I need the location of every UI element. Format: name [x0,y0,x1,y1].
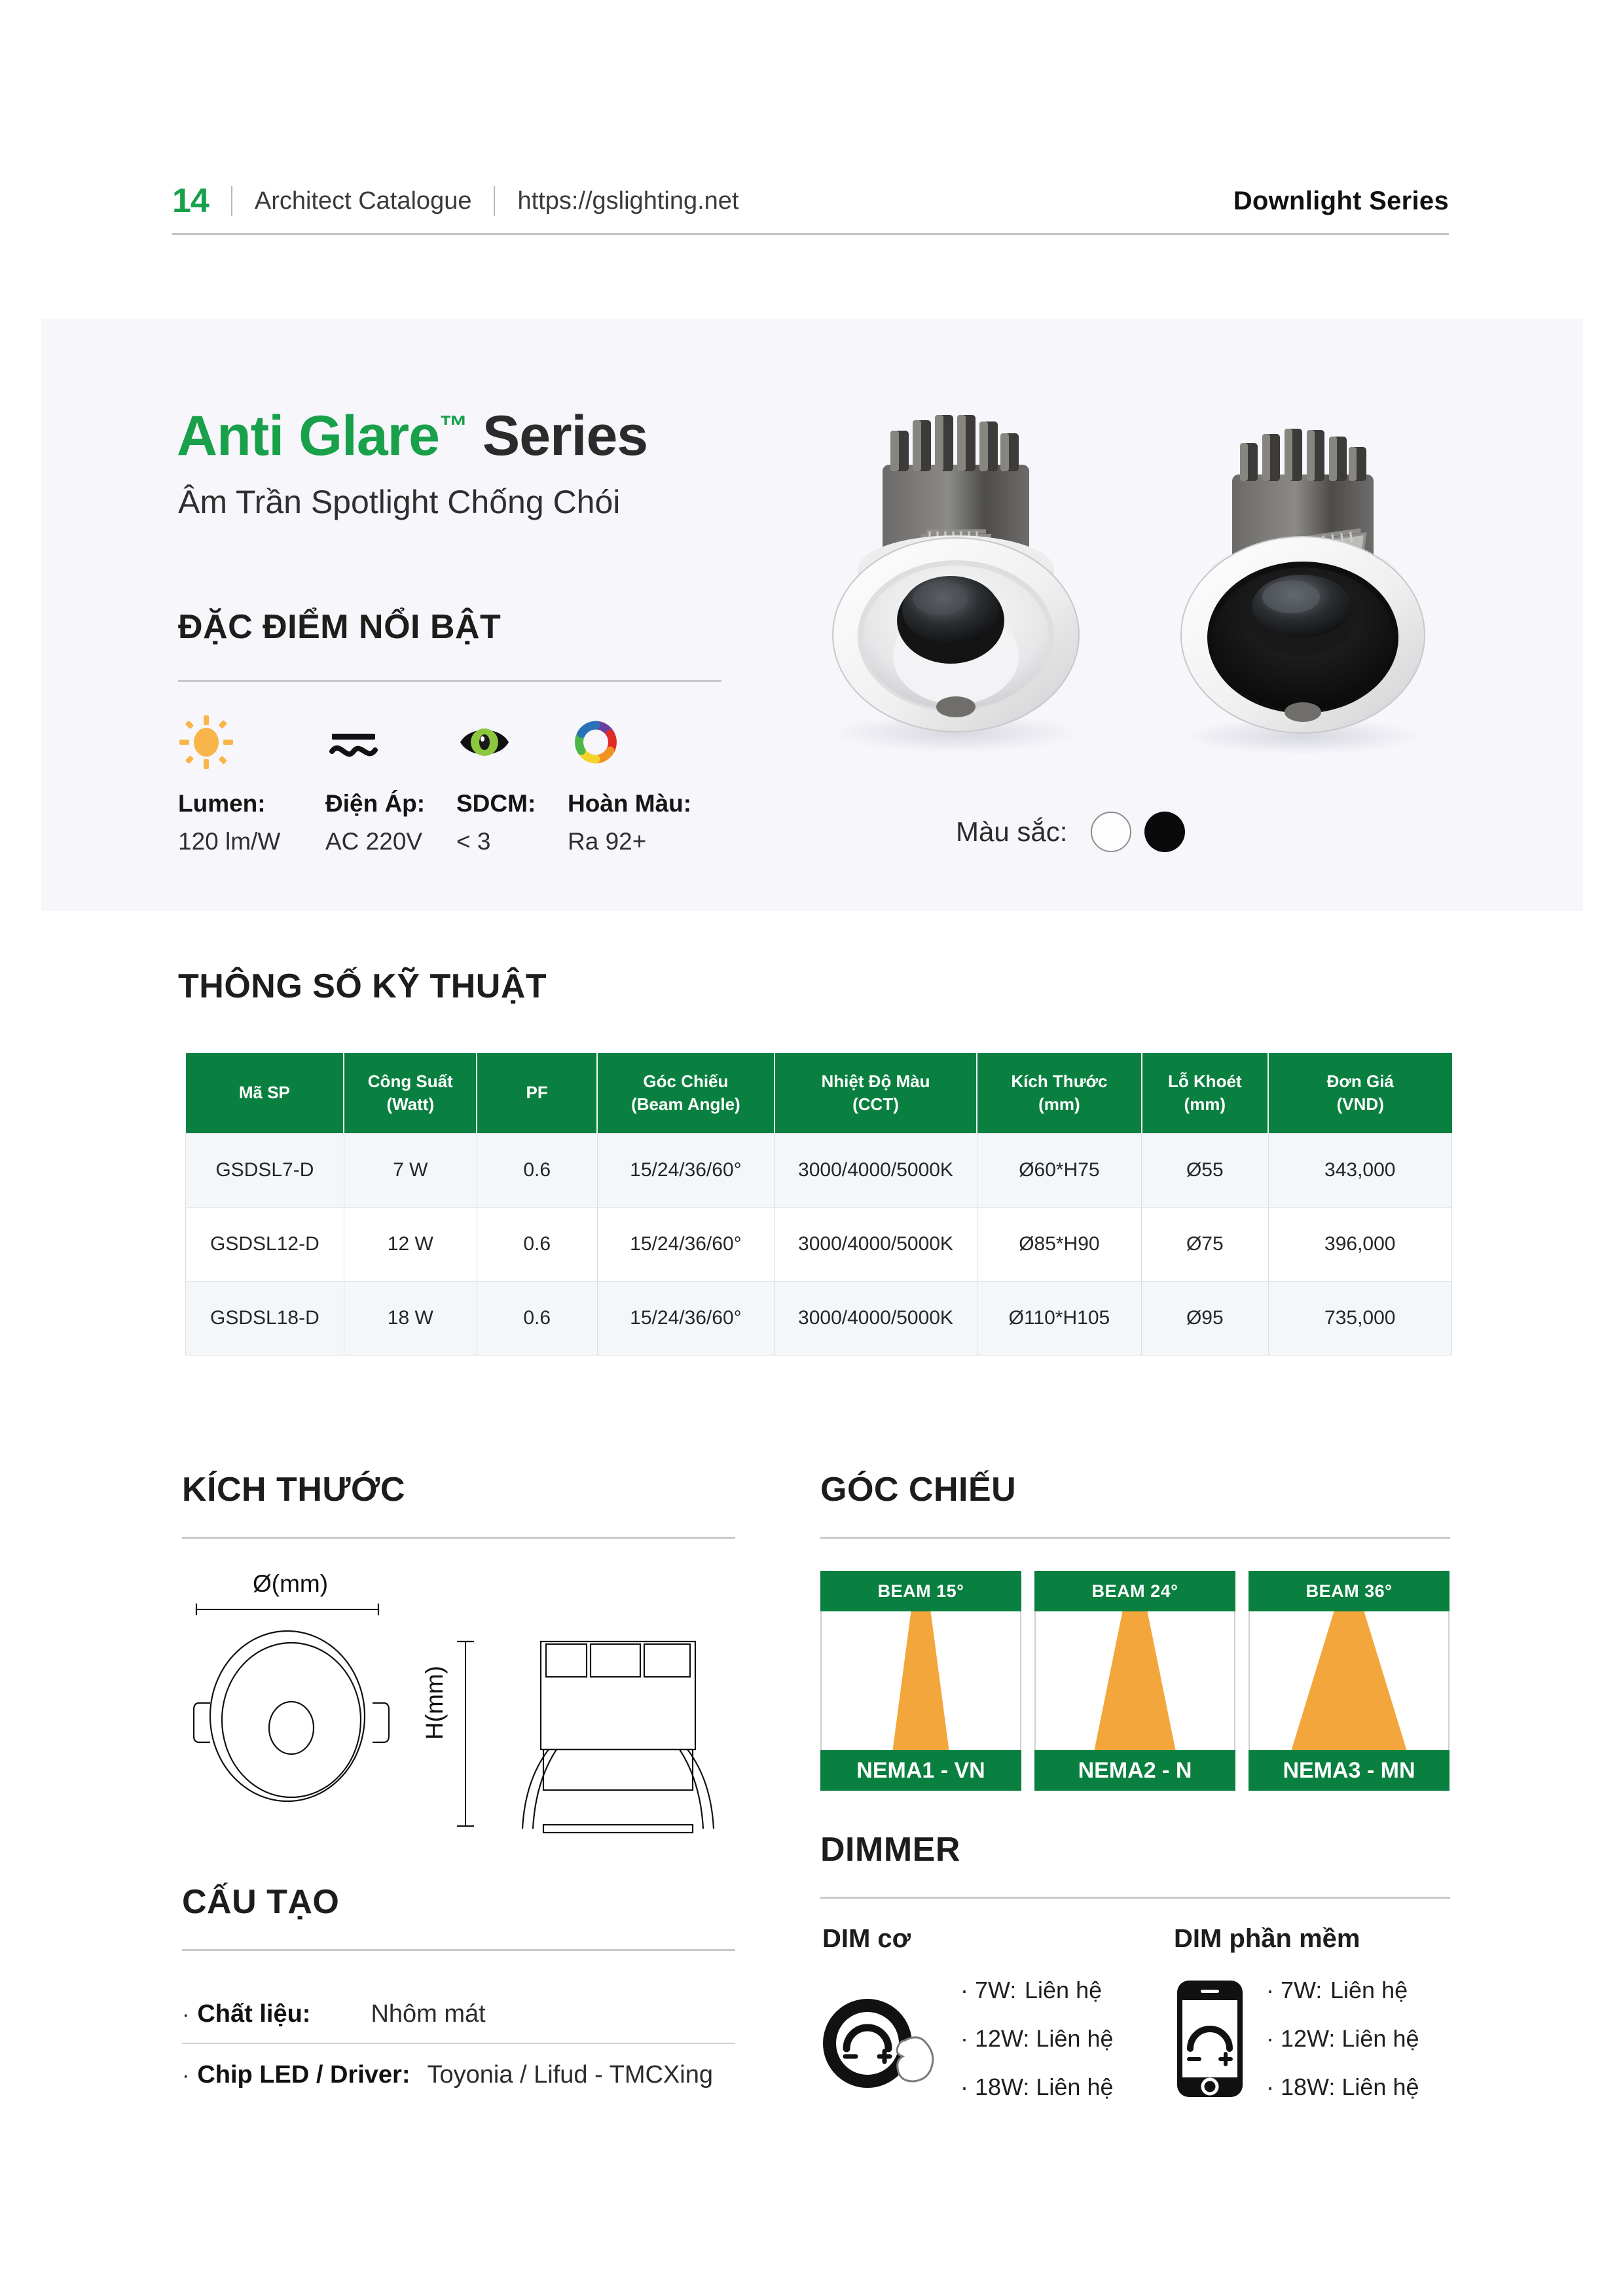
col-nhiet-do-mau: Nhiệt Độ Màu (CCT) [775,1053,977,1134]
beam-cone-shape [822,1611,1020,1750]
spec-heading: THÔNG SỐ KỸ THUẬT [178,967,547,1006]
feature-value-lumen: 120 lm/W [178,828,280,855]
dimmer-rule [820,1897,1450,1899]
beam-card-nema: NEMA2 - N [1034,1750,1235,1791]
sun-icon [178,704,234,781]
diameter-label: Ø(mm) [253,1570,328,1597]
color-options: Màu sắc: [956,812,1198,852]
dimmer-item: · 12W: Liên hệ [960,2025,1114,2053]
feature-list: Lumen: 120 lm/W Điện Áp: AC 220V [178,704,728,855]
dimmer-item: · 7W: Liên hệ [960,1977,1114,2004]
cell-pf: 0.6 [477,1134,597,1208]
product-photo-group [759,353,1532,772]
feature-lumen: Lumen: 120 lm/W [178,704,325,855]
construction-value: Nhôm mát [371,2000,485,2028]
dimmer-item: · 18W: Liên hệ [960,2073,1114,2101]
catalogue-page: 14 Architect Catalogue https://gslightin… [0,0,1623,2296]
beam-angle-heading: GÓC CHIẾU [820,1470,1016,1509]
dimmer-group-label-software: DIM phần mềm [1174,1924,1360,1954]
product-photo-black [1181,429,1425,755]
col-lo-khoet: Lỗ Khoét (mm) [1142,1053,1268,1134]
feature-cri: Hoàn Màu: Ra 92+ [568,704,691,855]
cell-cutout: Ø55 [1142,1134,1268,1208]
smartphone-dimmer-icon [1172,1977,1250,2101]
dimmer-item: · 18W: Liên hệ [1266,2073,1419,2101]
beam-card-15: BEAM 15° NEMA1 - VN [820,1571,1021,1791]
cell-model: GSDSL7-D [186,1134,344,1208]
header-divider [231,186,232,216]
cell-watt: 12 W [344,1208,477,1282]
table-row: GSDSL18-D 18 W 0.6 15/24/36/60° 3000/400… [186,1282,1452,1355]
feature-label-cri: Hoàn Màu: [568,790,691,817]
cell-pf: 0.6 [477,1208,597,1282]
feature-sdcm: SDCM: < 3 [456,704,568,855]
cell-cutout: Ø75 [1142,1208,1268,1282]
beam-cone-area [820,1611,1021,1750]
catalogue-label: Architect Catalogue [255,187,472,215]
series-title: Downlight Series [1233,187,1449,216]
construction-rule [182,1949,735,1951]
product-title-series: Series [483,404,647,467]
website-url[interactable]: https://gslighting.net [517,187,739,215]
beam-card-nema: NEMA3 - MN [1249,1750,1450,1791]
cell-size: Ø85*H90 [977,1208,1141,1282]
beam-card-nema: NEMA1 - VN [820,1750,1021,1791]
dimmer-item: · 7W: Liên hệ [1266,1977,1419,2004]
cell-price: 343,000 [1268,1134,1451,1208]
dimensions-drawing: Ø(mm) H(mm) [182,1564,745,1839]
color-wheel-icon [568,704,624,781]
feature-value-sdcm: < 3 [456,828,490,855]
beam-card-title: BEAM 36° [1249,1571,1450,1611]
dimmer-item: · 12W: Liên hệ [1266,2025,1419,2053]
cell-beam: 15/24/36/60° [597,1282,775,1355]
feature-voltage: Điện Áp: AC 220V [325,704,456,855]
construction-row-chip: · Chip LED / Driver: Toyonia / Lifud - T… [182,2043,735,2104]
construction-heading: CẤU TẠO [182,1882,339,1922]
product-photo-white [831,415,1080,753]
cell-model: GSDSL12-D [186,1208,344,1282]
beam-card-24: BEAM 24° NEMA2 - N [1034,1571,1235,1791]
feature-value-cri: Ra 92+ [568,828,646,855]
col-goc-chieu: Góc Chiếu (Beam Angle) [597,1053,775,1134]
cell-size: Ø60*H75 [977,1134,1141,1208]
header-rule [172,233,1449,235]
col-pf: PF [477,1053,597,1134]
features-rule [178,680,721,682]
col-ma-sp: Mã SP [186,1053,344,1134]
feature-label-voltage: Điện Áp: [325,790,425,817]
table-row: GSDSL7-D 7 W 0.6 15/24/36/60° 3000/4000/… [186,1134,1452,1208]
product-title: Anti Glare™ Series [177,404,647,469]
header-divider-2 [494,186,495,216]
product-subtitle: Âm Trần Spotlight Chống Chói [178,483,620,521]
beam-cone-area [1249,1611,1450,1750]
cell-model: GSDSL18-D [186,1282,344,1355]
page-header: 14 Architect Catalogue https://gslightin… [172,171,1449,230]
eye-icon [456,704,513,781]
feature-value-voltage: AC 220V [325,828,422,855]
dimmer-heading: DIMMER [820,1830,960,1869]
table-row: GSDSL12-D 12 W 0.6 15/24/36/60° 3000/400… [186,1208,1452,1282]
beam-card-36: BEAM 36° NEMA3 - MN [1249,1571,1450,1791]
beam-cone-shape [1250,1611,1448,1750]
bullet-icon: · [182,2002,189,2028]
col-don-gia: Đơn Giá (VND) [1268,1053,1451,1134]
color-swatch-black[interactable] [1144,812,1185,852]
construction-list: · Chất liệu: Nhôm mát · Chip LED / Drive… [182,1983,735,2104]
product-title-brand: Anti Glare [177,404,439,467]
beam-card-title: BEAM 24° [1034,1571,1235,1611]
cell-beam: 15/24/36/60° [597,1208,775,1282]
construction-key: Chip LED / Driver: [197,2061,410,2089]
color-swatch-white[interactable] [1091,812,1131,852]
cell-cct: 3000/4000/5000K [775,1208,977,1282]
feature-label-sdcm: SDCM: [456,790,536,817]
dimmer-value-list: · 7W: Liên hệ · 12W: Liên hệ · 18W: Liên… [960,1977,1114,2101]
col-kich-thuoc: Kích Thước (mm) [977,1053,1141,1134]
cell-size: Ø110*H105 [977,1282,1141,1355]
cell-watt: 18 W [344,1282,477,1355]
page-number: 14 [172,181,209,221]
cell-pf: 0.6 [477,1282,597,1355]
beam-cone-shape [1036,1611,1234,1750]
spec-table-header-row: Mã SP Công Suất (Watt) PF Góc Chiếu (Bea… [186,1053,1452,1134]
construction-key: Chất liệu: [197,2000,310,2028]
feature-label-lumen: Lumen: [178,790,266,817]
features-heading: ĐẶC ĐIỂM NỔI BẬT [178,607,501,647]
dimmer-value-list: · 7W: Liên hệ · 12W: Liên hệ · 18W: Liên… [1266,1977,1419,2101]
col-cong-suat: Công Suất (Watt) [344,1053,477,1134]
dimmer-knob-icon [820,1983,945,2094]
dimmer-group-label-mechanical: DIM cơ [822,1924,911,1954]
height-label: H(mm) [421,1666,448,1740]
cell-cutout: Ø95 [1142,1282,1268,1355]
dimmer-group-software: · 7W: Liên hệ · 12W: Liên hệ · 18W: Liên… [1172,1977,1486,2101]
bullet-icon: · [182,2063,189,2089]
cell-beam: 15/24/36/60° [597,1134,775,1208]
beam-card-list: BEAM 15° NEMA1 - VN BEAM 24° NEMA2 - N B… [820,1571,1450,1791]
cell-price: 735,000 [1268,1282,1451,1355]
trademark-symbol: ™ [439,410,467,442]
cell-watt: 7 W [344,1134,477,1208]
cell-price: 396,000 [1268,1208,1451,1282]
beam-cone-area [1034,1611,1235,1750]
dimensions-rule [182,1537,735,1539]
cell-cct: 3000/4000/5000K [775,1282,977,1355]
spec-table: Mã SP Công Suất (Watt) PF Góc Chiếu (Bea… [185,1053,1452,1355]
ac-voltage-icon [325,704,382,781]
construction-row-material: · Chất liệu: Nhôm mát [182,1983,735,2043]
dimensions-heading: KÍCH THƯỚC [182,1470,405,1509]
dimmer-group-mechanical: · 7W: Liên hệ · 12W: Liên hệ · 18W: Liên… [820,1977,1135,2101]
color-label: Màu sắc: [956,816,1067,848]
beam-card-title: BEAM 15° [820,1571,1021,1611]
construction-value: Toyonia / Lifud - TMCXing [427,2061,713,2089]
cell-cct: 3000/4000/5000K [775,1134,977,1208]
beam-angle-rule [820,1537,1450,1539]
